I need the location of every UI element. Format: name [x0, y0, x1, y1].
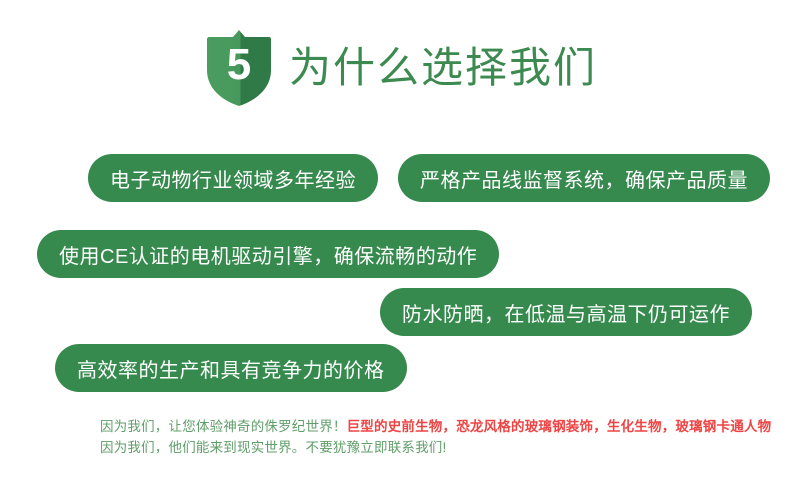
footer-line-1-prefix: 因为我们，让您体验神奇的侏罗纪世界！ — [100, 419, 347, 434]
feature-pill-5-label: 高效率的生产和具有竞争力的价格 — [77, 354, 385, 383]
footer-line-1-highlight: 巨型的史前生物，恐龙风格的玻璃钢装饰，生化生物，玻璃钢卡通人物 — [347, 419, 772, 434]
feature-pill-5: 高效率的生产和具有竞争力的价格 — [55, 344, 407, 392]
footer-line-1: 因为我们，让您体验神奇的侏罗纪世界！巨型的史前生物，恐龙风格的玻璃钢装饰，生化生… — [100, 416, 790, 437]
feature-pill-2-label: 严格产品线监督系统，确保产品质量 — [420, 164, 748, 193]
feature-pill-4: 防水防晒，在低温与高温下仍可运作 — [380, 288, 752, 336]
feature-pill-1: 电子动物行业领域多年经验 — [88, 154, 378, 202]
page-title: 为什么选择我们 — [289, 47, 597, 89]
feature-pill-1-label: 电子动物行业领域多年经验 — [110, 164, 356, 193]
feature-pill-2: 严格产品线监督系统，确保产品质量 — [398, 154, 770, 202]
footer-paragraph: 因为我们，让您体验神奇的侏罗纪世界！巨型的史前生物，恐龙风格的玻璃钢装饰，生化生… — [100, 416, 790, 458]
page-header: 5 为什么选择我们 — [0, 22, 800, 114]
shield-badge: 5 — [203, 28, 275, 108]
footer-line-2: 因为我们，他们能来到现实世界。不要犹豫立即联系我们! — [100, 437, 790, 458]
feature-pill-3: 使用CE认证的电机驱动引擎，确保流畅的动作 — [37, 230, 499, 278]
shield-number: 5 — [203, 28, 275, 108]
feature-pill-4-label: 防水防晒，在低温与高温下仍可运作 — [402, 298, 730, 327]
feature-pill-3-label: 使用CE认证的电机驱动引擎，确保流畅的动作 — [59, 240, 477, 269]
